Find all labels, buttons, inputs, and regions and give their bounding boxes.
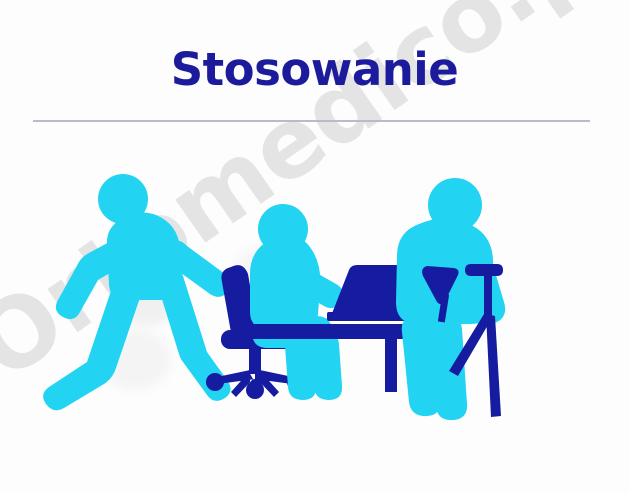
desk-top	[251, 324, 420, 339]
crutch-far-upper-shaft	[484, 268, 492, 320]
seated-person-body	[250, 204, 343, 400]
chair-caster-left	[206, 373, 224, 391]
person-with-crutches-figure	[396, 178, 505, 420]
crutch-far-lower-shaft	[486, 314, 501, 417]
crutch-person-head	[428, 178, 482, 232]
person-at-desk-figure	[206, 204, 420, 400]
desk-leg	[385, 339, 397, 392]
walking-person-figure	[43, 174, 231, 410]
title-block: Stosowanie	[0, 44, 629, 96]
walking-person-head	[98, 174, 148, 224]
slide-canvas: Ortomedico.pl Stosowanie	[0, 0, 629, 493]
title-underline-rule	[33, 120, 590, 122]
page-title: Stosowanie	[171, 44, 458, 96]
seated-person-head	[258, 204, 308, 254]
chair-caster-mid	[246, 381, 264, 399]
